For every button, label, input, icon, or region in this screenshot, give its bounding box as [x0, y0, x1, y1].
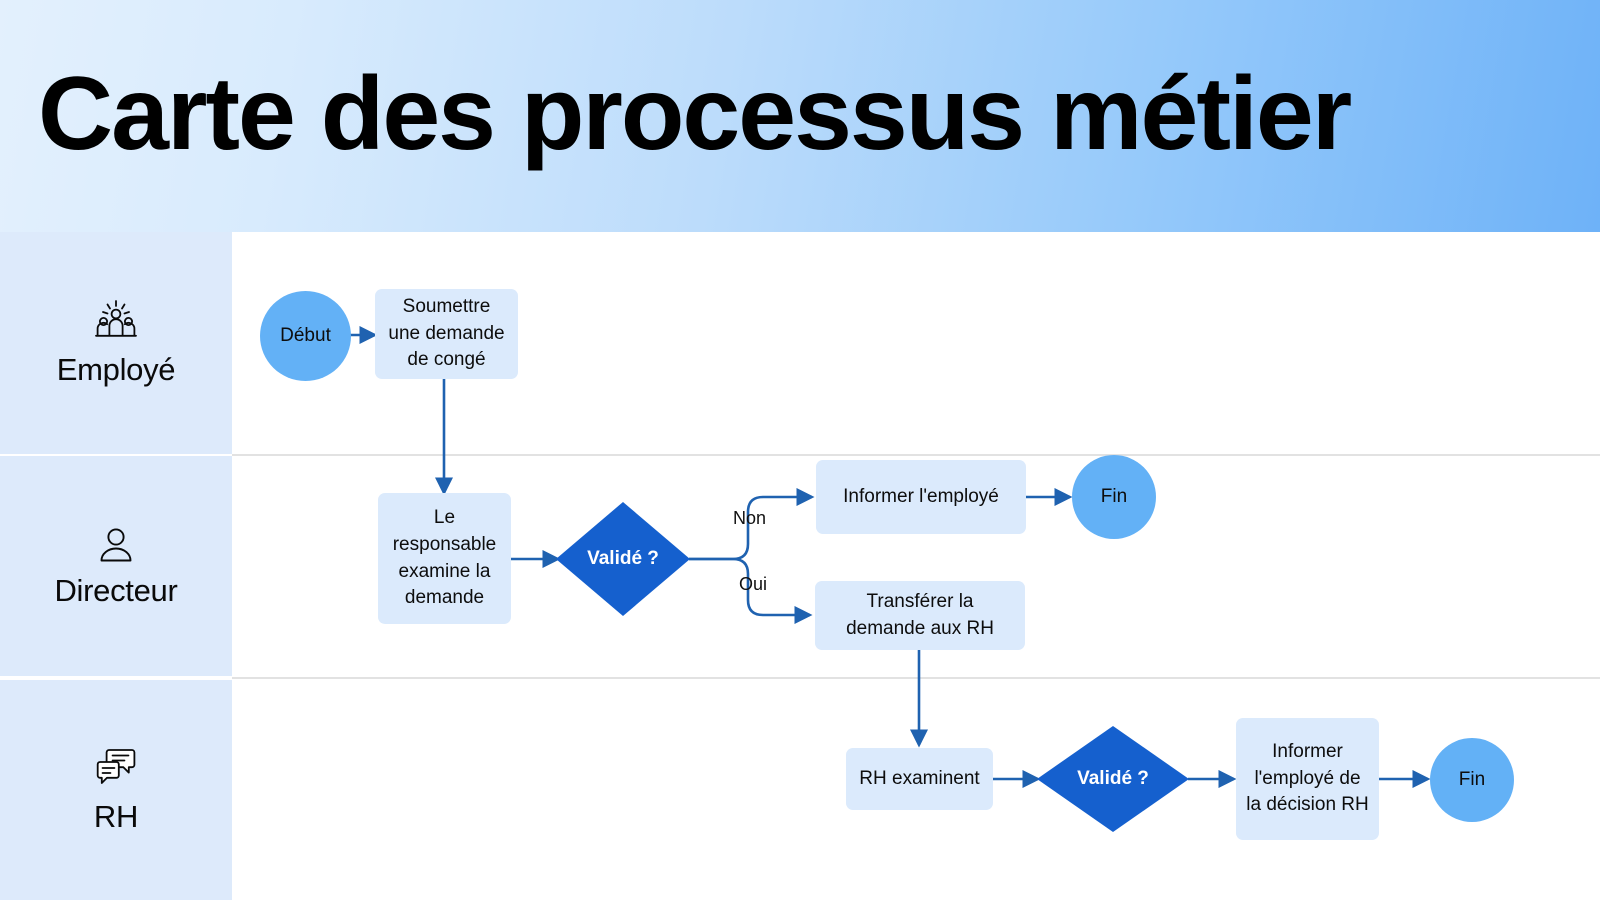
lane-separator-2	[232, 677, 1600, 679]
lane-label-directeur[interactable]: Directeur	[0, 456, 232, 676]
node-soumettre[interactable]: Soumettre une demande de congé	[375, 289, 518, 379]
lane-label-employe[interactable]: Employé	[0, 232, 232, 454]
node-valide2[interactable]: Validé ?	[1037, 726, 1189, 832]
node-responsable[interactable]: Le responsable examine la demande	[378, 493, 511, 624]
page-title: Carte des processus métier	[38, 48, 1568, 181]
node-fin2[interactable]: Fin	[1430, 738, 1514, 822]
node-rh-examinent[interactable]: RH examinent	[846, 748, 993, 810]
node-valide1[interactable]: Validé ?	[556, 502, 690, 616]
lane-label-text: RH	[94, 800, 138, 834]
node-label: Validé ?	[587, 548, 659, 570]
node-label: Informer l'employé de la décision RH	[1246, 739, 1369, 820]
business-process-map-page: Carte des processus métier	[0, 0, 1600, 900]
node-informer[interactable]: Informer l'employé	[816, 460, 1026, 534]
node-debut[interactable]: Début	[260, 291, 351, 381]
lane-label-text: Directeur	[54, 574, 177, 608]
node-label: Transférer la demande aux RH	[825, 589, 1015, 643]
header-banner: Carte des processus métier	[0, 0, 1600, 232]
lane-separator-1	[232, 454, 1600, 456]
edge-label-text: Oui	[739, 574, 767, 594]
person-icon	[95, 523, 137, 572]
people-group-icon	[88, 298, 144, 351]
node-label: Le responsable examine la demande	[388, 505, 501, 613]
node-informer-rh[interactable]: Informer l'employé de la décision RH	[1236, 718, 1379, 840]
lane-label-text: Employé	[57, 353, 176, 387]
edge-label-oui: Oui	[739, 574, 767, 595]
node-label: Fin	[1459, 769, 1485, 791]
node-label: Soumettre une demande de congé	[385, 294, 508, 375]
node-label: RH examinent	[859, 766, 979, 793]
chat-bubbles-icon	[92, 745, 140, 798]
lane-label-rh[interactable]: RH	[0, 680, 232, 900]
edge-label-text: Non	[733, 508, 766, 528]
node-label: Fin	[1101, 486, 1127, 508]
edge-label-non: Non	[733, 508, 766, 529]
node-label: Validé ?	[1077, 768, 1149, 790]
node-label: Début	[280, 325, 331, 347]
node-fin1[interactable]: Fin	[1072, 455, 1156, 539]
node-label: Informer l'employé	[843, 484, 999, 511]
node-transferer[interactable]: Transférer la demande aux RH	[815, 581, 1025, 650]
